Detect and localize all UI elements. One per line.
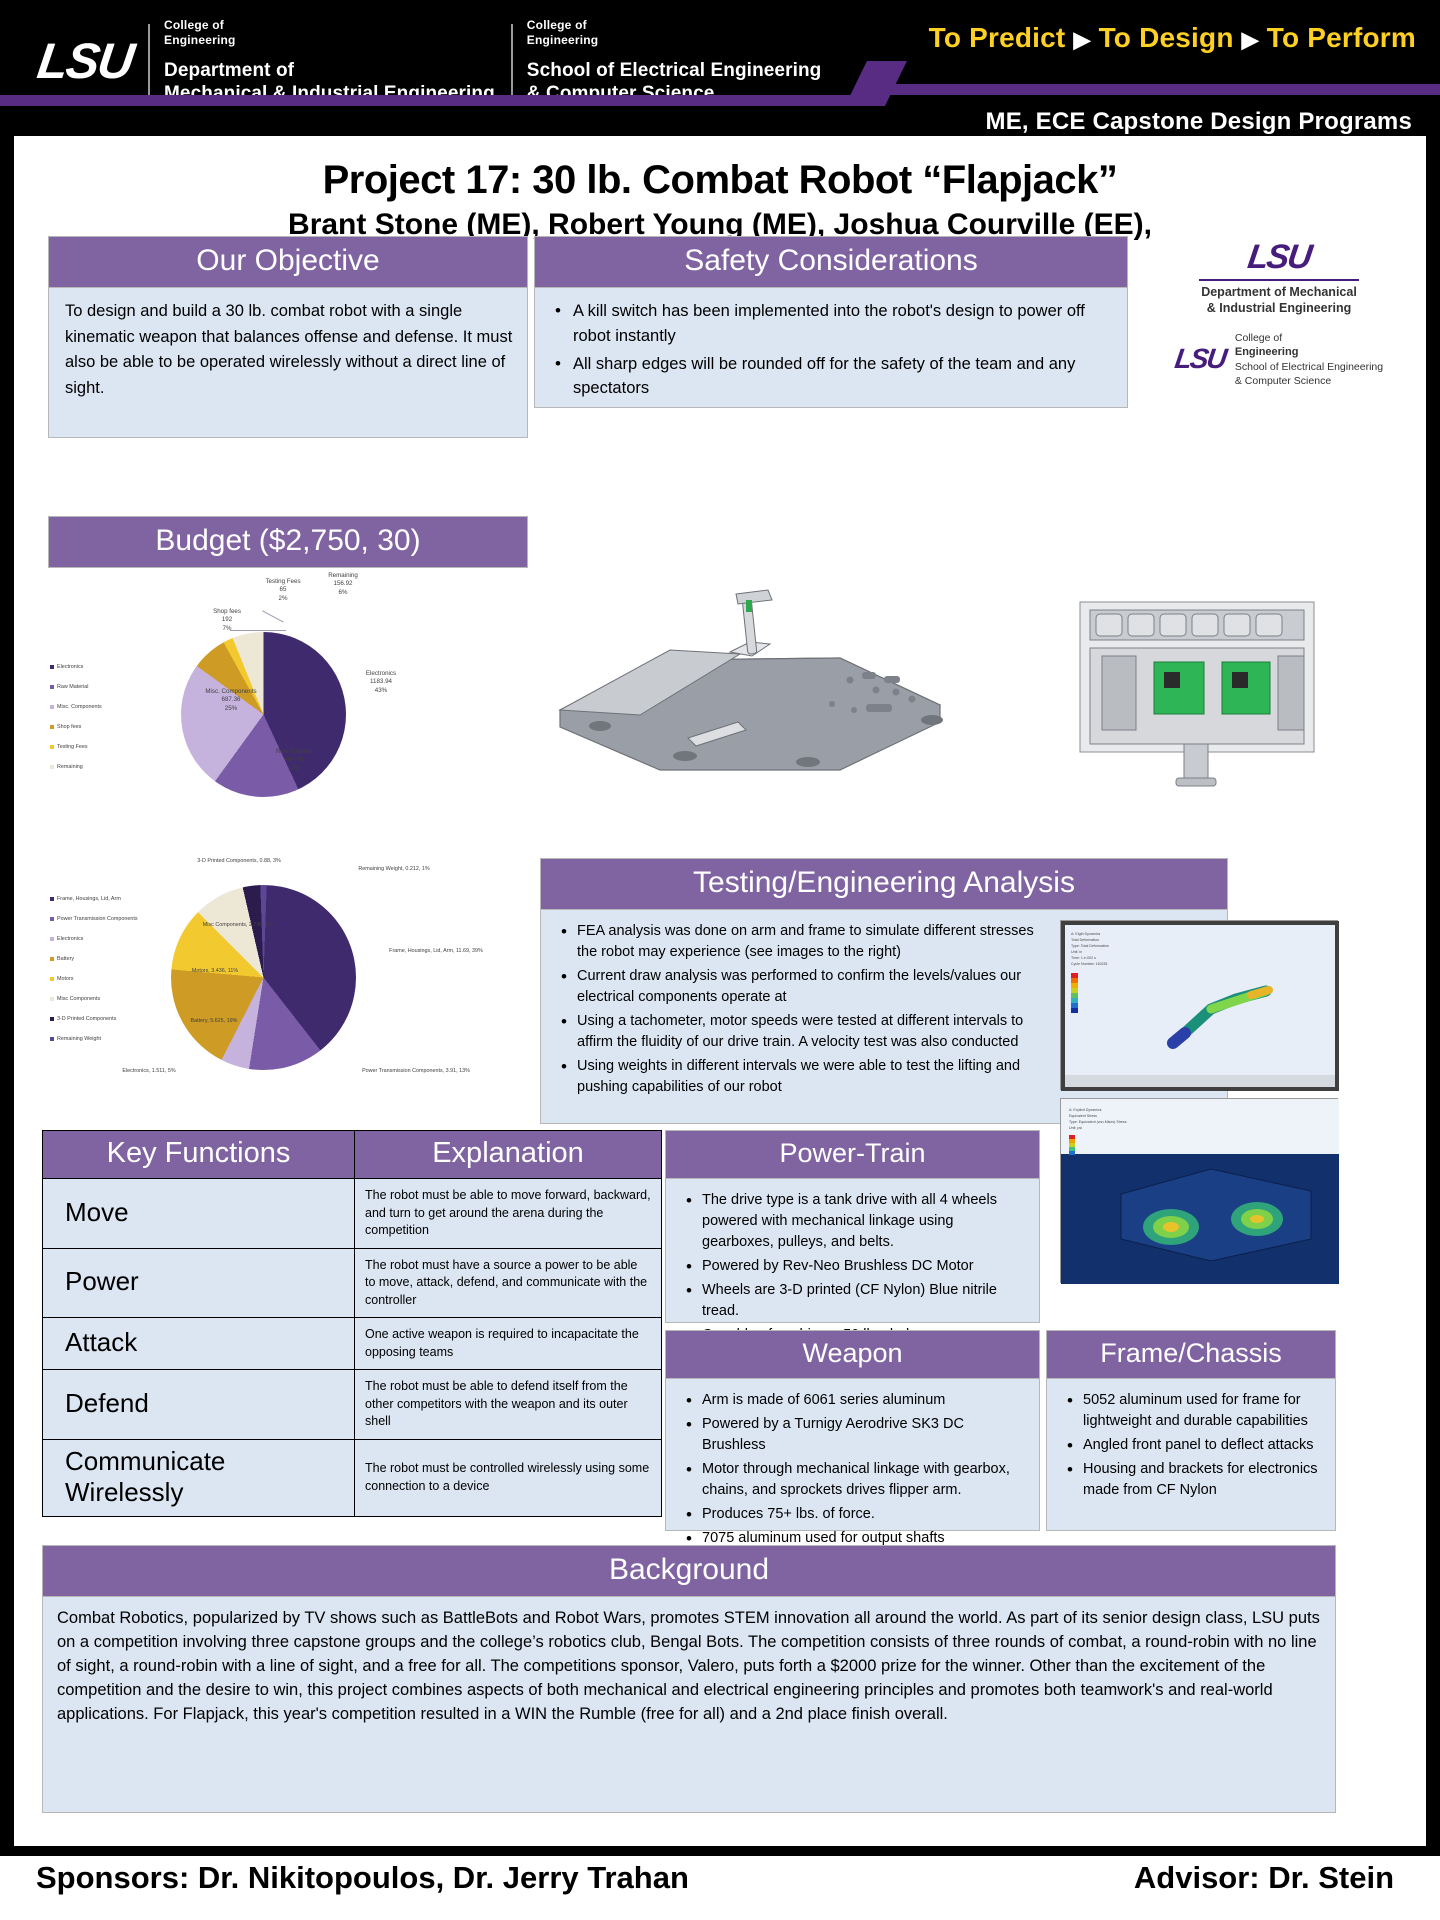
frame-chassis-heading: Frame/Chassis — [1046, 1330, 1336, 1379]
table-row: Power The robot must have a source a pow… — [43, 1248, 662, 1318]
objective-text: To design and build a 30 lb. combat robo… — [49, 288, 527, 413]
key-functions-col-header: Key Functions — [43, 1131, 355, 1179]
table-row: Communicate Wirelessly The robot must be… — [43, 1439, 662, 1516]
power-train-panel: Power-Train The drive type is a tank dri… — [665, 1130, 1040, 1323]
svg-text:Type: Total Deformation: Type: Total Deformation — [1071, 944, 1109, 948]
tagline-perform: To Perform — [1267, 22, 1416, 53]
dept2-college: College of — [527, 18, 822, 33]
dept2-engineering: Engineering — [527, 33, 822, 48]
tagline-design: To Design — [1099, 22, 1234, 53]
logo-rule-1 — [1199, 279, 1359, 281]
safety-bullet-1: A kill switch has been implemented into … — [551, 299, 1113, 349]
pie2-label-power-transmission: Power Transmission Components, 3.91, 13% — [346, 1068, 486, 1075]
testing-bullets: FEA analysis was done on arm and frame t… — [541, 910, 1061, 1113]
pie1-legend-misc-components: Misc. Components — [50, 704, 102, 710]
budget-charts-area: Testing Fees 65 2% Remaining 156.92 6% S… — [46, 570, 516, 1150]
top-panels-row: Our Objective To design and build a 30 l… — [48, 236, 1128, 438]
dept1-college: College of — [164, 18, 495, 33]
robot-cad-render-image — [540, 580, 960, 775]
function-name-attack: Attack — [43, 1318, 355, 1370]
lsu-logo-icon-me: LSU — [1245, 238, 1312, 277]
safety-heading: Safety Considerations — [534, 236, 1128, 288]
background-text: Combat Robotics, popularized by TV shows… — [43, 1597, 1335, 1739]
header-tagline: To Predict ▶ To Design ▶ To Perform — [929, 22, 1416, 54]
logo1-line1: Department of Mechanical — [1154, 284, 1404, 300]
testing-bullet-1: FEA analysis was done on arm and frame t… — [557, 921, 1047, 963]
frame-bullet-3: Housing and brackets for electronics mad… — [1063, 1459, 1321, 1501]
pie2-label-misc-components: Misc Components, 2.736, 9% — [198, 922, 278, 929]
poster-header: LSU College of Engineering Department of… — [0, 0, 1440, 136]
weapon-heading: Weapon — [665, 1330, 1040, 1379]
power-train-bullet-2: Powered by Rev-Neo Brushless DC Motor — [682, 1256, 1025, 1277]
budget-panel: Budget ($2,750, 30) — [48, 516, 528, 568]
svg-text:Unit: in: Unit: in — [1071, 950, 1082, 954]
frame-chassis-panel: Frame/Chassis 5052 aluminum used for fra… — [1046, 1330, 1336, 1531]
frame-bullet-1: 5052 aluminum used for frame for lightwe… — [1063, 1390, 1321, 1432]
weapon-panel: Weapon Arm is made of 6061 series alumin… — [665, 1330, 1040, 1531]
svg-text:A: Explicit Dynamics: A: Explicit Dynamics — [1069, 1108, 1102, 1112]
pie2-label-electronics: Electronics, 1.511, 5% — [104, 1068, 194, 1075]
table-header-row: Key Functions Explanation — [43, 1131, 662, 1179]
arrow-icon-2: ▶ — [1242, 27, 1259, 52]
svg-text:A: Eigth Dynamics: A: Eigth Dynamics — [1071, 932, 1101, 936]
function-explanation-communicate: The robot must be controlled wirelessly … — [355, 1439, 662, 1516]
frame-bullet-2: Angled front panel to deflect attacks — [1063, 1435, 1321, 1456]
pie2-legend-motors: Motors — [50, 976, 73, 982]
pie2-legend-misc-components: Misc Components — [50, 996, 100, 1002]
objective-body: To design and build a 30 lb. combat robo… — [48, 288, 528, 438]
svg-text:Equivalent Stress: Equivalent Stress — [1069, 1114, 1097, 1118]
pie1-legend-shop-fees: Shop fees — [50, 724, 81, 730]
lsu-me-logo: LSU Department of Mechanical & Industria… — [1154, 238, 1404, 317]
pie2-label-frame: Frame, Housings, Lid, Arm, 11.69, 39% — [376, 948, 496, 955]
power-train-heading: Power-Train — [665, 1130, 1040, 1179]
dept1-engineering: Engineering — [164, 33, 495, 48]
page-title: Project 17: 30 lb. Combat Robot “Flapjac… — [14, 158, 1426, 203]
right-logos-block: LSU Department of Mechanical & Industria… — [1154, 238, 1404, 388]
arrow-icon-1: ▶ — [1073, 27, 1090, 52]
pie1-label-raw-material: Raw Material 464.78 17% — [254, 748, 334, 773]
function-explanation-power: The robot must have a source a power to … — [355, 1248, 662, 1318]
pie2-legend-battery: Battery — [50, 956, 74, 962]
svg-text:Type: Equivalent (von-Mises) S: Type: Equivalent (von-Mises) Stress — [1069, 1120, 1127, 1124]
function-explanation-attack: One active weapon is required to incapac… — [355, 1318, 662, 1370]
function-name-move: Move — [43, 1179, 355, 1249]
poster-root: LSU College of Engineering Department of… — [0, 0, 1440, 1920]
pie1-legend-remaining: Remaining — [50, 764, 83, 770]
logo2-line2: & Computer Science — [1235, 374, 1383, 388]
function-name-power: Power — [43, 1248, 355, 1318]
objective-panel: Our Objective To design and build a 30 l… — [48, 236, 528, 438]
pie1-label-misc-components: Misc. Components 687.36 25% — [186, 688, 276, 713]
logo2-line1: School of Electrical Engineering — [1235, 360, 1383, 374]
lsu-logo-icon-ece: LSU — [1173, 343, 1227, 375]
weapon-bullet-2: Powered by a Turnigy Aerodrive SK3 DC Br… — [682, 1414, 1025, 1456]
fea-images-column: A: Eigth Dynamics Total Deformation Type… — [1060, 920, 1338, 1283]
weapon-bullet-3: Motor through mechanical linkage with ge… — [682, 1459, 1025, 1501]
testing-heading: Testing/Engineering Analysis — [540, 858, 1228, 910]
weapon-bullets: Arm is made of 6061 series aluminum Powe… — [666, 1379, 1039, 1564]
svg-text:Time: 1.e-002 s: Time: 1.e-002 s — [1071, 956, 1096, 960]
testing-bullet-2: Current draw analysis was performed to c… — [557, 966, 1047, 1008]
svg-text:Total Deformation: Total Deformation — [1071, 938, 1099, 942]
capstone-programs-label: ME, ECE Capstone Design Programs — [986, 108, 1413, 136]
pie2-legend-frame: Frame, Housings, Lid, Arm — [50, 896, 121, 902]
budget-heading: Budget ($2,750, 30) — [48, 516, 528, 568]
pie1-legend-raw-material: Raw Material — [50, 684, 88, 690]
pie1-leader-2 — [230, 630, 286, 631]
pie2-legend-3d-printed: 3-D Printed Components — [50, 1016, 116, 1022]
testing-bullet-4: Using weights in different intervals we … — [557, 1056, 1047, 1098]
frame-chassis-bullets: 5052 aluminum used for frame for lightwe… — [1047, 1379, 1335, 1516]
function-name-defend: Defend — [43, 1370, 355, 1440]
pie2-legend-electronics: Electronics — [50, 936, 83, 942]
power-train-bullet-3: Wheels are 3-D printed (CF Nylon) Blue n… — [682, 1280, 1025, 1322]
pie2-label-remaining-weight: Remaining Weight, 0.212, 1% — [324, 866, 464, 873]
pie2-label-3d-printed: 3-D Printed Components, 0.88, 3% — [164, 858, 314, 865]
explanation-col-header: Explanation — [355, 1131, 662, 1179]
pie1-label-electronics: Electronics 1183.94 43% — [342, 670, 420, 695]
safety-panel: Safety Considerations A kill switch has … — [534, 236, 1128, 438]
poster-footer: Sponsors: Dr. Nikitopoulos, Dr. Jerry Tr… — [0, 1856, 1440, 1920]
pie1-label-remaining: Remaining 156.92 6% — [308, 572, 378, 597]
background-body: Combat Robotics, popularized by TV shows… — [42, 1597, 1336, 1813]
dept1-line1: Department of — [164, 59, 495, 82]
key-functions-table: Key Functions Explanation Move The robot… — [42, 1130, 662, 1517]
function-explanation-move: The robot must be able to move forward, … — [355, 1179, 662, 1249]
bar-segment-right — [870, 84, 1440, 95]
safety-bullets: A kill switch has been implemented into … — [535, 288, 1127, 416]
chassis-internals-image — [1072, 592, 1322, 792]
weight-pie-chart — [171, 885, 356, 1070]
pie1-legend-testing-fees: Testing Fees — [50, 744, 88, 750]
frame-chassis-body: 5052 aluminum used for frame for lightwe… — [1046, 1379, 1336, 1531]
safety-body: A kill switch has been implemented into … — [534, 288, 1128, 408]
power-train-body: The drive type is a tank drive with all … — [665, 1179, 1040, 1323]
tagline-predict: To Predict — [929, 22, 1066, 53]
pie2-label-motors: Motors, 3.436, 11% — [178, 968, 252, 975]
sponsors-label: Sponsors: Dr. Nikitopoulos, Dr. Jerry Tr… — [36, 1860, 689, 1896]
logo2-small1: College of — [1235, 331, 1383, 345]
logo2-small2: Engineering — [1235, 346, 1299, 358]
testing-bullet-3: Using a tachometer, motor speeds were te… — [557, 1011, 1047, 1053]
fea-arm-simulation-image: A: Eigth Dynamics Total Deformation Type… — [1060, 920, 1338, 1090]
background-heading: Background — [42, 1545, 1336, 1597]
advisor-label: Advisor: Dr. Stein — [1134, 1860, 1394, 1896]
svg-text:Cycle Number: 163251: Cycle Number: 163251 — [1071, 962, 1108, 966]
logo2-text: College of Engineering School of Electri… — [1235, 331, 1383, 388]
pie2-legend-power-transmission: Power Transmission Components — [50, 916, 138, 922]
table-row: Attack One active weapon is required to … — [43, 1318, 662, 1370]
power-train-bullet-1: The drive type is a tank drive with all … — [682, 1190, 1025, 1253]
weapon-body: Arm is made of 6061 series aluminum Powe… — [665, 1379, 1040, 1531]
table-row: Defend The robot must be able to defend … — [43, 1370, 662, 1440]
bar-segment-left — [0, 95, 855, 106]
lsu-ece-logo: LSU College of Engineering School of Ele… — [1154, 331, 1404, 388]
weapon-bullet-1: Arm is made of 6061 series aluminum — [682, 1390, 1025, 1411]
logo1-line2: & Industrial Engineering — [1154, 300, 1404, 316]
pie2-legend-remaining-weight: Remaining Weight — [50, 1036, 101, 1042]
function-explanation-defend: The robot must be able to defend itself … — [355, 1370, 662, 1440]
dept2-line1: School of Electrical Engineering — [527, 59, 822, 82]
objective-heading: Our Objective — [48, 236, 528, 288]
safety-bullet-2: All sharp edges will be rounded off for … — [551, 352, 1113, 402]
weapon-bullet-4: Produces 75+ lbs. of force. — [682, 1504, 1025, 1525]
background-panel: Background Combat Robotics, popularized … — [42, 1545, 1336, 1813]
svg-text:Unit: psi: Unit: psi — [1069, 1126, 1082, 1130]
pie1-legend-electronics: Electronics — [50, 664, 83, 670]
lsu-logo-icon: LSU — [34, 36, 135, 86]
table-row: Move The robot must be able to move forw… — [43, 1179, 662, 1249]
pie2-label-battery: Battery, 5.625, 19% — [176, 1018, 252, 1025]
pie1-leader-1 — [262, 610, 284, 622]
function-name-communicate: Communicate Wirelessly — [43, 1439, 355, 1516]
fea-frame-simulation-image: A: Explicit Dynamics Equivalent Stress T… — [1060, 1098, 1338, 1283]
